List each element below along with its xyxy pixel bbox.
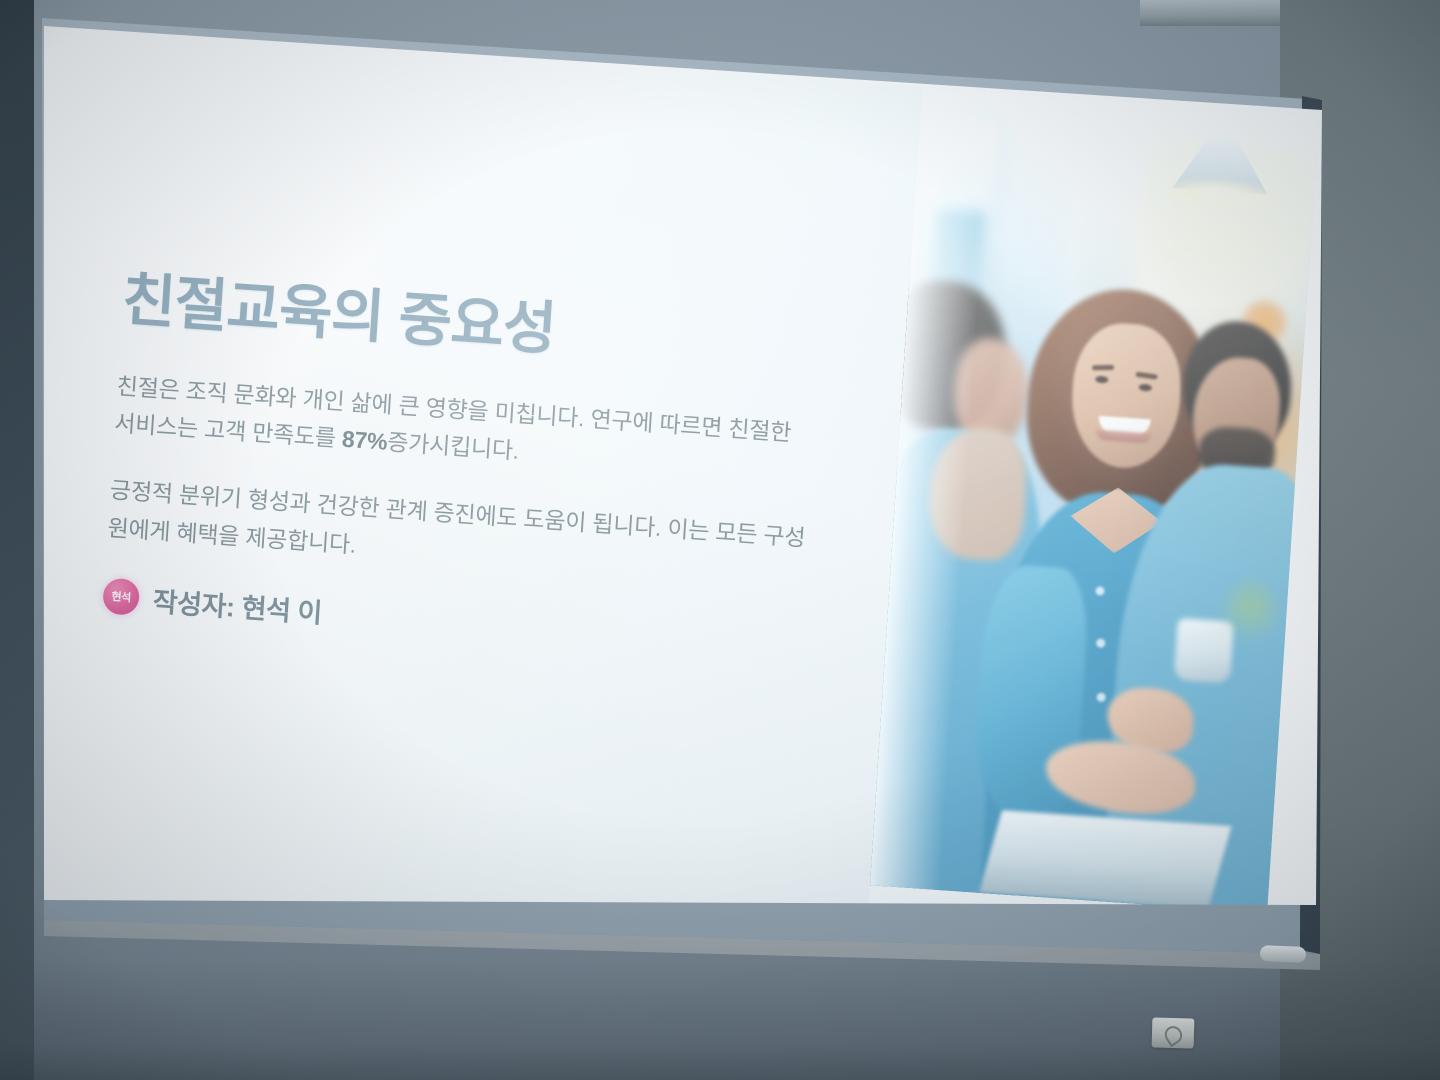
left-wall-jamb — [0, 0, 34, 1080]
meeting-room-scene: 친절교육의 중요성 친절은 조직 문화와 개인 삶에 큰 영향을 미칩니다. 연… — [0, 0, 1440, 1080]
wall-hook-fixture — [1152, 1017, 1195, 1048]
projector-screen-bar-cap — [1260, 945, 1307, 963]
projector-screen — [30, 0, 1330, 1002]
